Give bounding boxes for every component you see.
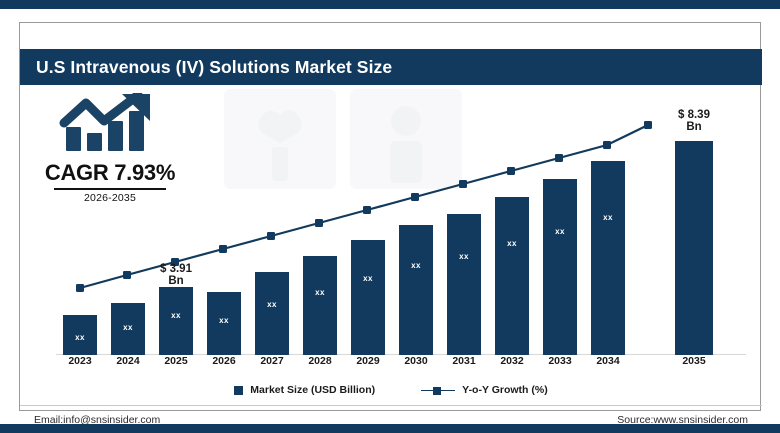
bar-2024[interactable]: xx [111,303,145,355]
footer-source[interactable]: Source:www.snsinsider.com [617,414,748,426]
cagr-badge: CAGR 7.93% 2026-2035 [35,93,185,204]
bar-value-placeholder: xx [399,261,433,270]
cagr-period: 2026-2035 [35,192,185,204]
x-tick-2031: 2031 [439,355,489,367]
bar-2025[interactable]: xx [159,287,193,355]
chart-header: U.S Intravenous (IV) Solutions Market Si… [20,49,762,85]
x-tick-2025: 2025 [151,355,201,367]
x-tick-2035: 2035 [669,355,719,367]
value-callout-2035: $ 8.39 Bn [660,109,728,133]
legend-item-market-size[interactable]: Market Size (USD Billion) [234,384,375,396]
bar-2027[interactable]: xx [255,272,289,355]
bar-value-placeholder: xx [255,300,289,309]
bar-2028[interactable]: xx [303,256,337,355]
bar-2026[interactable]: xx [207,292,241,355]
bar-value-placeholder: xx [207,316,241,325]
bar-2031[interactable]: xx [447,214,481,355]
chart-card: U.S Intravenous (IV) Solutions Market Si… [19,22,761,411]
bar-value-placeholder: xx [543,227,577,236]
x-tick-2028: 2028 [295,355,345,367]
x-tick-2034: 2034 [583,355,633,367]
line-marker-icon [421,386,455,395]
cagr-divider [54,188,166,190]
bar-2033[interactable]: xx [543,179,577,355]
bar-2029[interactable]: xx [351,240,385,355]
top-accent-strip [0,0,780,9]
value-callout-amount: $ 3.91 [160,263,192,275]
bar-value-placeholder: xx [111,323,145,332]
page-title: U.S Intravenous (IV) Solutions Market Si… [20,57,392,78]
x-tick-2023: 2023 [55,355,105,367]
x-tick-2029: 2029 [343,355,393,367]
x-tick-2026: 2026 [199,355,249,367]
growth-arrow-chart-icon [35,93,185,158]
x-tick-2033: 2033 [535,355,585,367]
bar-2034[interactable]: xx [591,161,625,355]
x-tick-2027: 2027 [247,355,297,367]
footer-email[interactable]: Email:info@snsinsider.com [34,414,160,426]
square-marker-icon [234,386,243,395]
bar-2023[interactable]: xx [63,315,97,355]
bar-value-placeholder: xx [495,239,529,248]
bar-2035[interactable] [675,141,713,355]
bar-value-placeholder: xx [63,333,97,342]
chart-footer: Email:info@snsinsider.com Source:www.sns… [20,405,762,433]
chart-legend: Market Size (USD Billion) Y-o-Y Growth (… [20,377,762,403]
legend-label: Y-o-Y Growth (%) [462,384,548,396]
value-callout-unit: Bn [686,121,701,133]
value-callout-unit: Bn [168,275,183,287]
bar-value-placeholder: xx [591,213,625,222]
legend-item-yoy-growth[interactable]: Y-o-Y Growth (%) [421,384,548,396]
bar-value-placeholder: xx [447,252,481,261]
cagr-value: CAGR 7.93% [35,160,185,186]
x-tick-2032: 2032 [487,355,537,367]
x-tick-2030: 2030 [391,355,441,367]
x-tick-2024: 2024 [103,355,153,367]
bar-2032[interactable]: xx [495,197,529,355]
bar-value-placeholder: xx [351,274,385,283]
chart-infographic: U.S Intravenous (IV) Solutions Market Si… [0,0,780,433]
value-callout-2025: $ 3.91 Bn [142,263,210,287]
bar-value-placeholder: xx [159,311,193,320]
bar-value-placeholder: xx [303,288,337,297]
x-axis: 2023 2024 2025 2026 2027 2028 2029 2030 … [20,355,762,377]
value-callout-amount: $ 8.39 [678,109,710,121]
bar-2030[interactable]: xx [399,225,433,355]
legend-label: Market Size (USD Billion) [250,384,375,396]
